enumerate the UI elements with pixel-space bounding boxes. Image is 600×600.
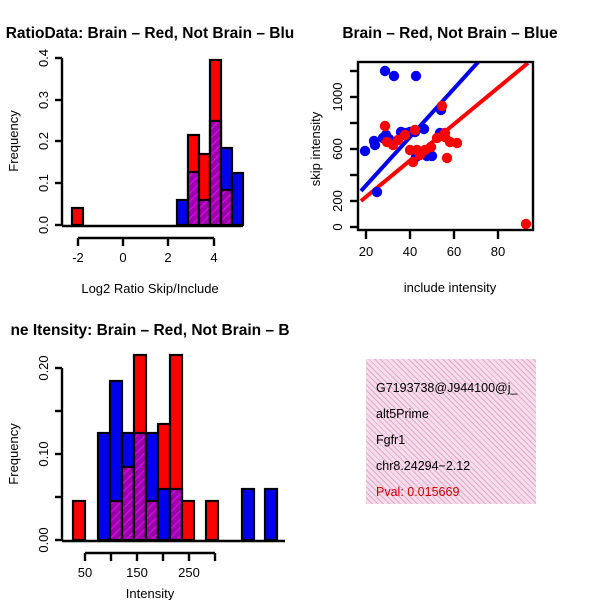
bar-overlap-3 [188,172,199,225]
intensity-y-axis-label: Frequency [6,423,21,485]
info-line-event-type: alt5Prime [376,401,536,427]
bar-overlap-5 [210,121,221,225]
scatter-y-ticklabel-0: 0 [330,223,345,230]
bar-overlap-4 [199,200,210,225]
panel-gene-info: G7193738@J944100@j_ alt5Prime Fgfr1 chr8… [300,300,600,600]
ibar-blue-6 [158,489,170,540]
scatter-y-ticklabel-600: 600 [330,138,345,160]
intensity-x-ticklabel-50: 50 [78,565,92,580]
intensity-x-axis-label: Intensity [126,586,175,600]
point-brain [521,219,531,229]
point-brain [437,101,447,111]
point-not-brain [370,140,380,150]
ratio-y-ticklabel-2: 0.2 [36,132,51,150]
intensity-x-ticklabel-250: 250 [178,565,200,580]
intensity-y-ticklabel-010: 0.10 [36,441,51,466]
ratio-y-axis-label: Frequency [6,110,21,172]
ratio-histogram-title: RatioData: Brain – Red, Not Brain – Blu [6,25,295,42]
bar-red-0 [72,208,83,225]
point-brain [410,125,420,135]
intensity-y-ticklabel-020: 0.20 [36,355,51,380]
point-not-brain [419,124,429,134]
point-brain [426,142,436,152]
panel-scatter: Brain – Red, Not Brain – Blue [300,0,600,300]
ratio-y-ticklabel-0: 0.0 [36,216,51,234]
point-brain [380,121,390,131]
scatter-x-ticklabel-40: 40 [403,244,417,259]
ratio-x-axis-label: Log2 Ratio Skip/Include [81,281,218,296]
point-not-brain [360,146,370,156]
info-line-pval: Pval: 0.015669 [376,479,536,505]
ratio-x-ticklabel-3: 4 [210,250,217,265]
point-not-brain [389,71,399,81]
ratio-x-ticklabel-0: -2 [72,250,84,265]
scatter-x-axis-label: include intensity [404,280,497,295]
info-line-gene-name: Fgfr1 [376,427,536,453]
ratio-histogram-svg: RatioData: Brain – Red, Not Brain – Blu … [0,0,300,300]
bar-overlap-6 [221,190,232,225]
scatter-y-axis-label: skip intensity [308,111,323,186]
gene-info-lines: G7193738@J944100@j_ alt5Prime Fgfr1 chr8… [376,375,536,504]
bar-blue-7 [232,173,243,225]
info-line-locus: chr8.24294−2.12 [376,453,536,479]
ratio-y-ticklabel-4: 0.4 [36,49,51,67]
intensity-x-ticklabel-150: 150 [126,565,148,580]
scatter-data-group [360,60,531,229]
intensity-bars-group [73,355,277,540]
point-brain [400,130,410,140]
scatter-x-ticklabel-60: 60 [447,244,461,259]
ibar-overlap-4 [134,433,146,540]
ibar-red-9 [206,501,218,540]
ratio-x-ticklabel-2: 2 [164,250,171,265]
ibar-blue-11 [242,489,254,540]
gene-info-box: G7193738@J944100@j_ alt5Prime Fgfr1 chr8… [366,359,536,504]
intensity-y-ticklabel-0: 0.00 [36,527,51,552]
panel-intensity-histogram: ne Itensity: Brain – Red, Not Brain – B … [0,300,300,600]
ratio-y-ticklabel-3: 0.3 [36,91,51,109]
ibar-overlap-7 [170,489,182,540]
ratio-x-ticklabel-1: 0 [119,250,126,265]
scatter-y-ticklabel-1000: 1000 [330,83,345,112]
point-not-brain [411,71,421,81]
point-not-brain [380,66,390,76]
bar-blue-2 [177,200,188,225]
intensity-histogram-svg: ne Itensity: Brain – Red, Not Brain – B … [0,300,300,600]
ibar-overlap-2 [110,501,122,540]
ibar-overlap-3 [122,467,134,540]
ratio-bars-group [72,60,243,225]
ibar-red-8 [182,501,194,540]
scatter-x-ticklabel-20: 20 [359,244,373,259]
scatter-x-ticklabel-80: 80 [491,244,505,259]
ibar-blue-13 [265,489,277,540]
point-brain [452,138,462,148]
scatter-title: Brain – Red, Not Brain – Blue [342,25,558,42]
point-not-brain [372,187,382,197]
ibar-red-0 [73,501,85,540]
scatter-svg: Brain – Red, Not Brain – Blue [300,0,600,300]
panel-ratio-histogram: RatioData: Brain – Red, Not Brain – Blu … [0,0,300,300]
intensity-histogram-title: ne Itensity: Brain – Red, Not Brain – B [10,322,289,339]
point-brain [442,153,452,163]
info-line-gene-id: G7193738@J944100@j_ [376,375,536,401]
scatter-y-ticklabel-200: 200 [330,190,345,212]
ibar-overlap-5 [146,501,158,540]
ibar-blue-1 [98,433,110,540]
ratio-y-ticklabel-1: 0.1 [36,174,51,192]
